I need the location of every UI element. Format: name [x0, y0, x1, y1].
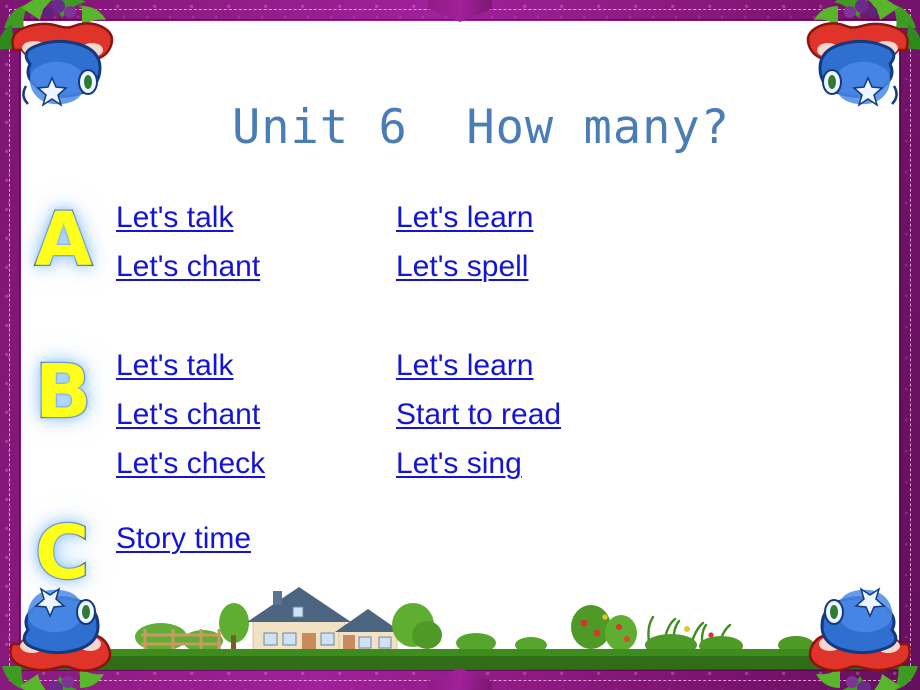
frame-top-notch: [428, 0, 492, 22]
carnival-mask-icon-top-right: [800, 0, 920, 112]
section-c-left-column: Story time: [116, 514, 396, 563]
section-c-right-column: [396, 514, 899, 563]
link-lets-talk-a[interactable]: Let's talk: [116, 193, 233, 242]
carnival-mask-icon-bottom-left: [0, 582, 118, 690]
link-lets-learn-a[interactable]: Let's learn: [396, 193, 533, 242]
link-lets-check-b[interactable]: Let's check: [116, 439, 265, 488]
section-letter-badge-b: B: [35, 355, 91, 429]
section-a-left-column: Let's talk Let's chant: [116, 193, 396, 291]
sections-container: A Let's talk Let's chant Let's learn Let…: [21, 193, 899, 563]
slide-canvas: Unit 6 How many? A Let's talk Let's chan…: [21, 21, 899, 669]
link-lets-spell-a[interactable]: Let's spell: [396, 242, 528, 291]
carnival-mask-icon-bottom-right: [802, 582, 920, 690]
link-lets-learn-b[interactable]: Let's learn: [396, 341, 533, 390]
link-lets-chant-a[interactable]: Let's chant: [116, 242, 260, 291]
link-lets-sing-b[interactable]: Let's sing: [396, 439, 522, 488]
scenery-svg: [21, 549, 899, 669]
mask-svg-tl: [0, 0, 120, 112]
section-c-columns: Story time: [116, 514, 899, 563]
section-a-right-column: Let's learn Let's spell: [396, 193, 899, 291]
mask-svg-br: [802, 582, 920, 690]
section-b-right-column: Let's learn Start to read Let's sing: [396, 341, 899, 488]
section-b-columns: Let's talk Let's chant Let's check Let's…: [116, 341, 899, 488]
frame-bottom-notch: [428, 668, 492, 690]
section-letter-badge-a: A: [35, 203, 92, 277]
mask-svg-bl: [0, 582, 118, 690]
link-lets-chant-b[interactable]: Let's chant: [116, 390, 260, 439]
section-c: C Story time: [21, 514, 899, 563]
carnival-mask-icon-top-left: [0, 0, 120, 112]
mask-svg-tr: [800, 0, 920, 112]
section-a-columns: Let's talk Let's chant Let's learn Let's…: [116, 193, 899, 291]
section-b: B Let's talk Let's chant Let's check Let…: [21, 341, 899, 488]
section-b-left-column: Let's talk Let's chant Let's check: [116, 341, 396, 488]
section-a: A Let's talk Let's chant Let's learn Let…: [21, 193, 899, 291]
link-start-to-read-b[interactable]: Start to read: [396, 390, 561, 439]
section-letter-badge-c: C: [35, 516, 89, 590]
link-lets-talk-b[interactable]: Let's talk: [116, 341, 233, 390]
page-title: Unit 6 How many?: [21, 97, 899, 159]
link-story-time-c[interactable]: Story time: [116, 514, 251, 563]
bottom-scene-illustration: [21, 549, 899, 669]
slide-root: Unit 6 How many? A Let's talk Let's chan…: [0, 0, 920, 690]
